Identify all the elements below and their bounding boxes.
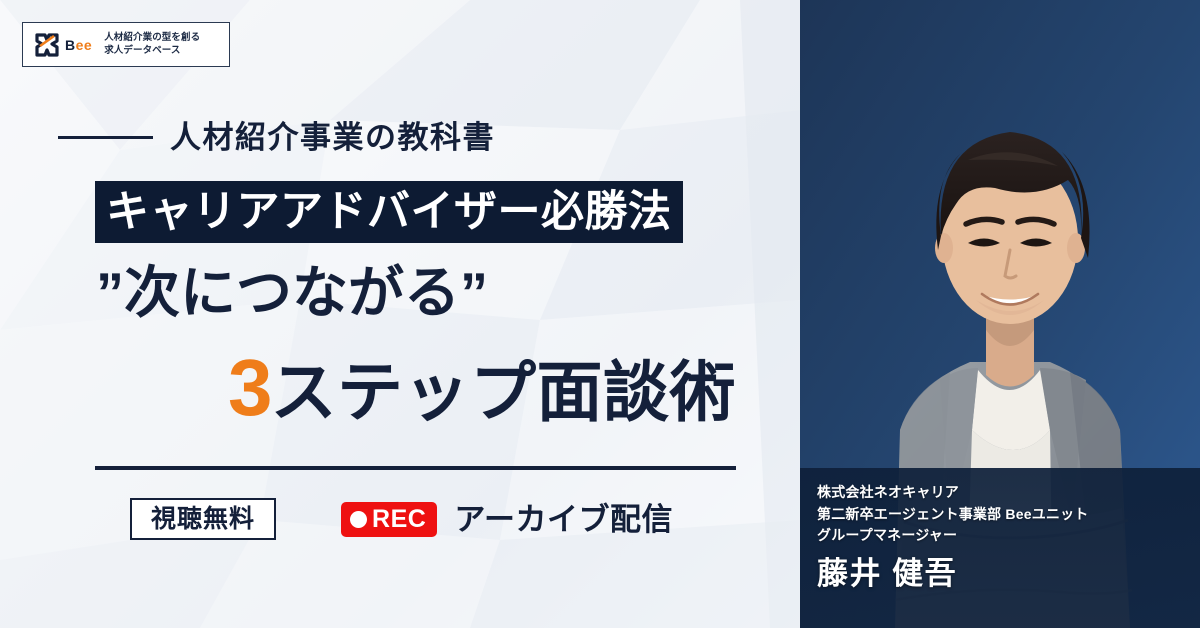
headline-highlight-text: キャリアアドバイザー必勝法 xyxy=(106,191,672,234)
brand-logo-badge[interactable]: Bee 人材紹介業の型を創る 求人データベース xyxy=(22,22,230,67)
speaker-department: 第二新卒エージェント事業部 Beeユニット xyxy=(817,504,1197,526)
rec-badge-label: REC xyxy=(372,507,426,532)
brand-tagline: 人材紹介業の型を創る 求人データベース xyxy=(104,32,200,57)
rec-badge: REC xyxy=(341,502,437,537)
headline-highlight-bar: キャリアアドバイザー必勝法 xyxy=(95,181,683,243)
section-divider xyxy=(95,466,736,470)
webinar-banner: Bee 人材紹介業の型を創る 求人データベース 人材紹介事業の教科書 キャリアア… xyxy=(0,0,1200,628)
eyebrow-rule xyxy=(58,136,153,139)
headline-step-text: ステップ面談術 xyxy=(271,355,737,429)
speaker-panel: 株式会社ネオキャリア 第二新卒エージェント事業部 Beeユニット グループマネー… xyxy=(800,0,1200,628)
speaker-info: 株式会社ネオキャリア 第二新卒エージェント事業部 Beeユニット グループマネー… xyxy=(817,482,1197,589)
eyebrow-text: 人材紹介事業の教科書 xyxy=(170,122,495,153)
speaker-title: グループマネージャー xyxy=(817,525,1197,547)
record-dot-icon xyxy=(350,511,367,528)
headline-step-line: 3ステップ面談術 xyxy=(228,348,736,428)
headline-quote: ”次につながる” xyxy=(96,265,488,321)
archive-delivery-label: アーカイブ配信 xyxy=(454,504,673,535)
eyebrow-heading: 人材紹介事業の教科書 xyxy=(58,122,495,153)
speaker-name: 藤井 健吾 xyxy=(817,558,1197,589)
brand-logo-wordmark: Bee xyxy=(65,38,92,52)
speaker-company: 株式会社ネオキャリア xyxy=(817,482,1197,504)
headline-step-number: 3 xyxy=(228,343,271,432)
badge-row: 視聴無料 REC アーカイブ配信 xyxy=(130,498,673,540)
free-viewing-badge[interactable]: 視聴無料 xyxy=(130,498,276,540)
left-content-panel: Bee 人材紹介業の型を創る 求人データベース 人材紹介事業の教科書 キャリアア… xyxy=(0,0,800,628)
bee-hexagon-icon xyxy=(32,30,62,60)
